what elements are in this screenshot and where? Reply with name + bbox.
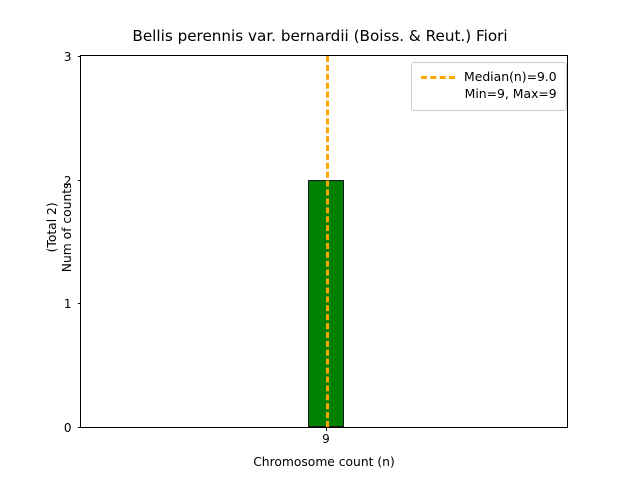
y-axis-label-line1: Num of counts — [61, 41, 76, 414]
dashed-line-icon — [421, 76, 455, 79]
plot-inner — [81, 56, 567, 427]
y-tick-label-0: 0 — [64, 422, 72, 434]
y-axis-label-line2: (Total 2) — [45, 41, 60, 414]
x-tick-9 — [326, 427, 327, 431]
x-tick-label-9: 9 — [322, 433, 330, 445]
chart-legend[interactable]: Median(n)=9.0 Min=9, Max=9 — [411, 62, 567, 111]
y-tick-0: 0 — [78, 427, 82, 428]
plot-area: 0 1 2 3 9 — [80, 55, 568, 428]
legend-label-median: Median(n)=9.0 — [464, 69, 557, 85]
legend-row-minmax: Min=9, Max=9 — [421, 86, 557, 102]
legend-row-median: Median(n)=9.0 — [421, 69, 557, 85]
median-line — [326, 56, 329, 427]
figure-canvas: Bellis perennis var. bernardii (Boiss. &… — [0, 0, 640, 480]
y-axis-label: (Total 2) Num of counts — [45, 41, 76, 414]
x-axis-label: Chromosome count (n) — [80, 455, 568, 469]
legend-label-minmax: Min=9, Max=9 — [465, 86, 557, 102]
chart-title: Bellis perennis var. bernardii (Boiss. &… — [0, 27, 640, 45]
